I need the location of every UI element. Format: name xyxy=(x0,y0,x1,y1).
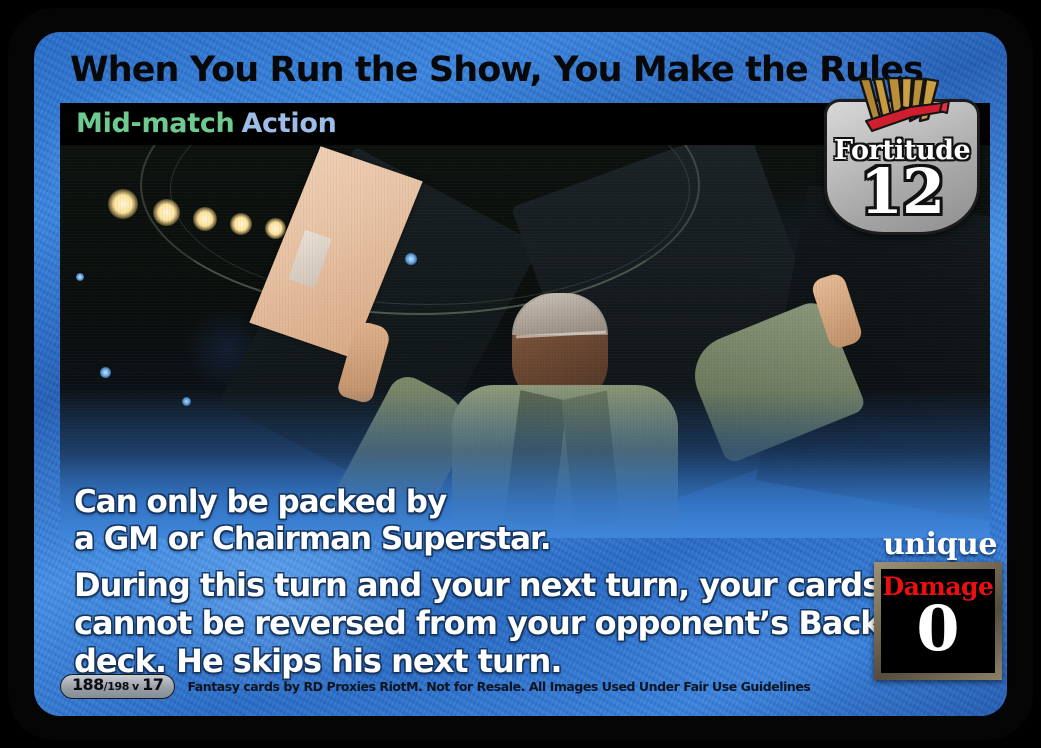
card-text-line: cannot be reversed from your opponent’s … xyxy=(74,604,814,642)
card-number: 188 xyxy=(72,675,104,694)
card-set-total: 198 xyxy=(107,680,129,693)
card-title: When You Run the Show, You Make the Rule… xyxy=(70,46,870,94)
damage-box: Damage 0 xyxy=(874,562,1002,680)
card-footer: 188/198v17 Fantasy cards by RD Proxies R… xyxy=(60,672,970,700)
fortitude-badge: Fortitude 12 xyxy=(824,77,980,235)
damage-value: 0 xyxy=(881,595,995,663)
card-content: When You Run the Show, You Make the Rule… xyxy=(34,32,1007,716)
wwe-logo xyxy=(850,77,954,139)
fortitude-value: 12 xyxy=(824,159,980,225)
card-text-block: Can only be packed by a GM or Chairman S… xyxy=(74,484,814,680)
card-text-line: Can only be packed by xyxy=(74,484,814,521)
card-type-text: Mid-matchAction xyxy=(76,103,337,145)
footer-credit-text: Fantasy cards by RD Proxies RiotM. Not f… xyxy=(187,679,810,694)
card-type-category: Action xyxy=(241,108,336,139)
card-text-line: a GM or Chairman Superstar. xyxy=(74,521,814,558)
card-restriction-text: Can only be packed by a GM or Chairman S… xyxy=(74,484,814,558)
trading-card: When You Run the Show, You Make the Rule… xyxy=(0,0,1041,748)
card-number-badge: 188/198v17 xyxy=(60,674,175,699)
card-ability-text: During this turn and your next turn, you… xyxy=(74,566,814,680)
card-version: 17 xyxy=(142,675,163,694)
version-marker: v xyxy=(132,680,139,693)
card-type-kind: Mid-match xyxy=(76,108,234,139)
card-text-line: During this turn and your next turn, you… xyxy=(74,566,814,604)
unique-label: unique xyxy=(870,527,1010,562)
damage-box-inner: Damage 0 xyxy=(881,569,995,673)
